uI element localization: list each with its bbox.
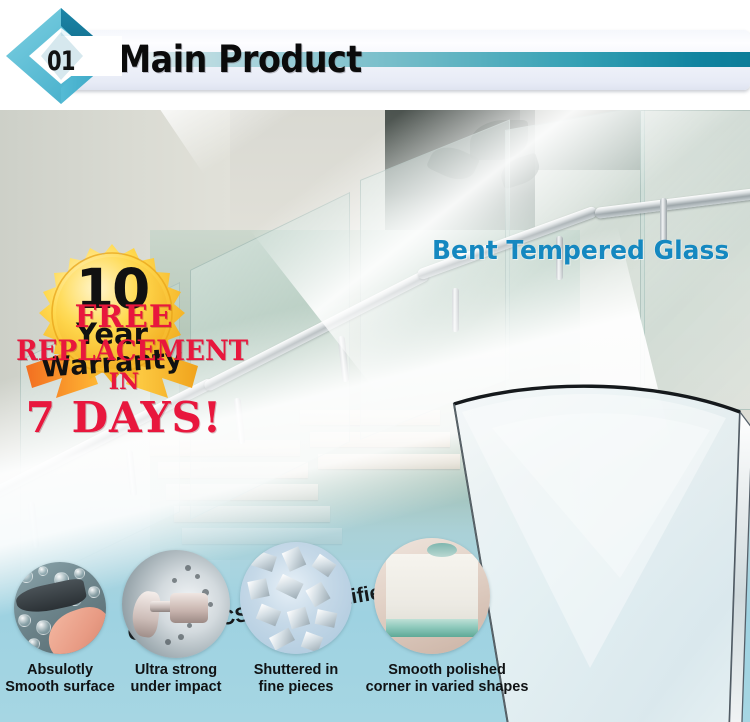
- feature-icon-3: [240, 542, 352, 654]
- hero-photo: 10 Year Warranty FREE REPLACEMENT IN 7 D…: [0, 110, 750, 722]
- banner-header: Main Product: [0, 0, 750, 110]
- feature-caption-3-line1: Shuttered in: [236, 662, 356, 679]
- feature-caption-4-line1: Smooth polished: [356, 662, 538, 679]
- feature-icon-2: [122, 550, 230, 658]
- feature-icon-1: [14, 562, 106, 654]
- feature-caption-1-line1: Absulotly: [4, 662, 116, 679]
- hammer-impact-icon: [122, 550, 230, 658]
- feature-caption-1: Absulotly Smooth surface: [4, 662, 116, 696]
- feature-caption-2-line2: under impact: [118, 679, 234, 696]
- feature-caption-2: Ultra strong under impact: [118, 662, 234, 696]
- feature-caption-3: Shuttered in fine pieces: [236, 662, 356, 696]
- page-title: Main Product: [118, 36, 362, 86]
- polished-glass-corner-icon: [374, 538, 490, 654]
- feature-caption-3-line2: fine pieces: [236, 679, 356, 696]
- feature-caption-1-line2: Smooth surface: [4, 679, 116, 696]
- section-number: 01: [47, 46, 75, 77]
- feature-caption-2-line1: Ultra strong: [118, 662, 234, 679]
- feature-icon-4: [374, 538, 490, 654]
- water-droplets-finger-icon: [14, 562, 106, 654]
- feature-caption-4: Smooth polished corner in varied shapes: [356, 662, 538, 696]
- shattered-fragments-icon: [240, 542, 352, 654]
- feature-thumbnails: Absulotly Smooth surface: [0, 110, 750, 722]
- product-banner-page: Main Product: [0, 0, 750, 722]
- diamond-chevron-logo-icon: 01: [0, 2, 122, 110]
- feature-caption-4-line2: corner in varied shapes: [356, 679, 538, 696]
